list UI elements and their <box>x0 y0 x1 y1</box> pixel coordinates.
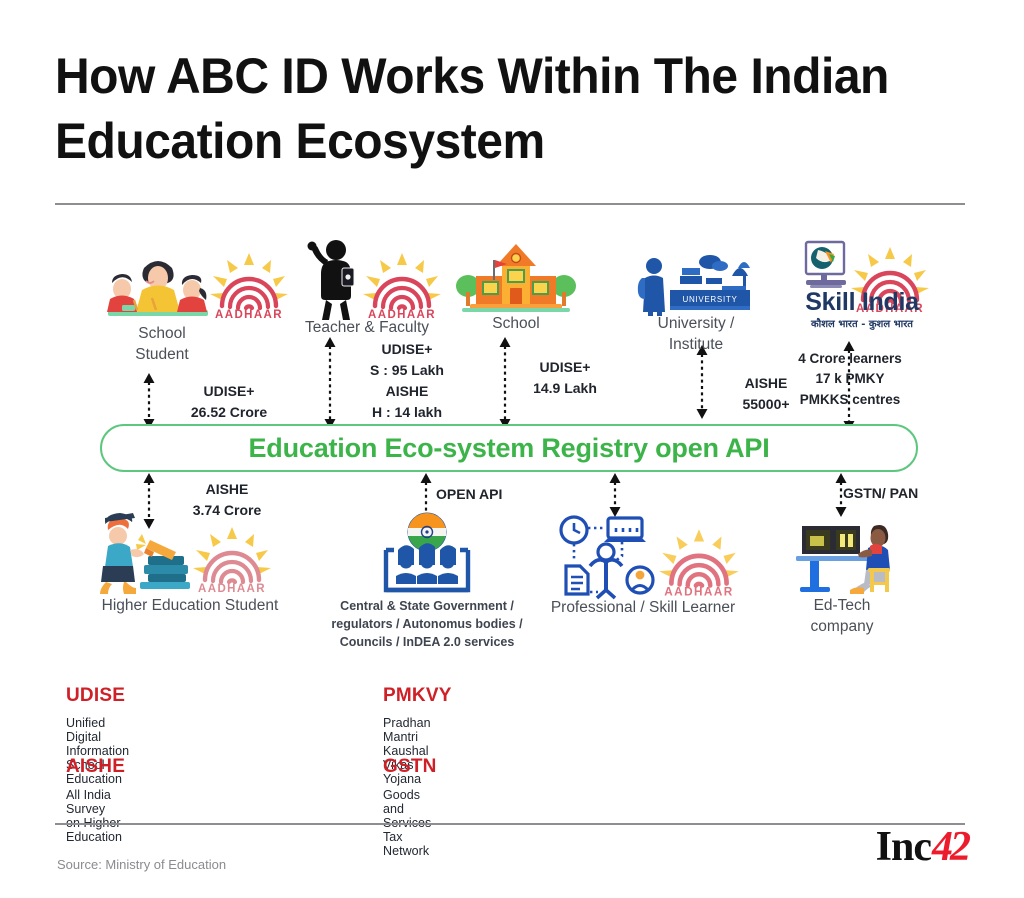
source-attribution: Source: Ministry of Education <box>57 857 226 872</box>
legend-term-udise: UDISE <box>66 685 125 707</box>
legend-term-pmkvy: PMKVY <box>383 685 452 707</box>
edtech-desk-icon <box>790 512 900 596</box>
metric-school: UDISE+ 14.9 Lakh <box>510 357 620 399</box>
legend-term-aishe: AISHE <box>66 756 125 778</box>
metric-skill-india: 4 Crore learners 17 k PMKY PMKKS centres <box>772 349 928 410</box>
registry-label: Education Eco-system Registry open API <box>248 433 769 464</box>
graduate-student-icon <box>92 510 222 596</box>
legend-definition-aishe: All India Survey on Higher Education <box>66 788 122 844</box>
metric-teacher-faculty: UDISE+ S : 95 Lakh AISHE H : 14 lakh <box>342 339 472 423</box>
inc42-logo-text: Inc <box>876 826 931 868</box>
aadhaar-logo: AADHAAR <box>205 250 295 320</box>
inc42-logo-number: 42 <box>932 826 968 868</box>
node-school-label: School <box>452 314 580 335</box>
metric-school-student: UDISE+ 26.52 Crore <box>164 381 294 423</box>
legend-term-gstn: GSTN <box>383 756 437 778</box>
inc42-logo: Inc 42 <box>876 826 968 868</box>
node-teacher-faculty-label: Teacher & Faculty <box>272 318 462 339</box>
professional-skills-icon <box>556 512 676 598</box>
node-school-student: AADHAAR <box>100 248 295 328</box>
node-university-institute: UNIVERSITY University / Institute <box>632 246 762 318</box>
ecosystem-diagram: AADHAAR <box>0 0 1024 898</box>
metric-government-regulators: OPEN API <box>436 484 532 505</box>
metric-ed-tech-company: GSTN/ PAN <box>843 483 943 504</box>
node-higher-education-student-label: Higher Education Student <box>90 596 290 617</box>
node-ed-tech-company-label: Ed-Tech company <box>776 596 908 637</box>
node-skill-india-label: Skill India <box>780 288 944 317</box>
node-government-regulators-label: Central & State Government / regulators … <box>322 598 532 651</box>
node-university-institute-label: University / Institute <box>632 314 760 355</box>
government-people-icon <box>372 510 482 596</box>
node-skill-india-sublabel: कौशल भारत - कुशल भारत <box>780 316 944 330</box>
node-professional-skill-learner: AADHAAR <box>556 512 746 598</box>
arrow-university-institute <box>695 344 709 420</box>
footer-divider <box>55 823 965 825</box>
arrow-school-student <box>142 372 156 430</box>
node-school-student-label: School Student <box>92 324 232 365</box>
node-skill-india: AADHAAR Skill India कौशल भारत - कुशल भार… <box>784 240 944 330</box>
node-ed-tech-company: Ed-Tech company <box>790 512 900 596</box>
arrow-teacher-faculty <box>323 336 337 430</box>
aadhaar-logo: AADHAAR <box>358 250 448 320</box>
node-professional-skill-learner-label: Professional / Skill Learner <box>528 598 758 619</box>
registry-bar[interactable]: Education Eco-system Registry open API <box>100 424 918 472</box>
svg-text:UNIVERSITY: UNIVERSITY <box>682 295 737 304</box>
university-icon: UNIVERSITY <box>632 246 760 318</box>
school-building-icon <box>452 238 580 318</box>
infographic-page: How ABC ID Works Within The Indian Educa… <box>0 0 1024 898</box>
school-student-icon <box>100 248 218 328</box>
node-government-regulators: Central & State Government / regulators … <box>372 510 482 596</box>
teacher-icon <box>304 238 366 322</box>
node-higher-education-student: AADHAAR <box>92 510 292 596</box>
node-school: School <box>452 238 582 318</box>
